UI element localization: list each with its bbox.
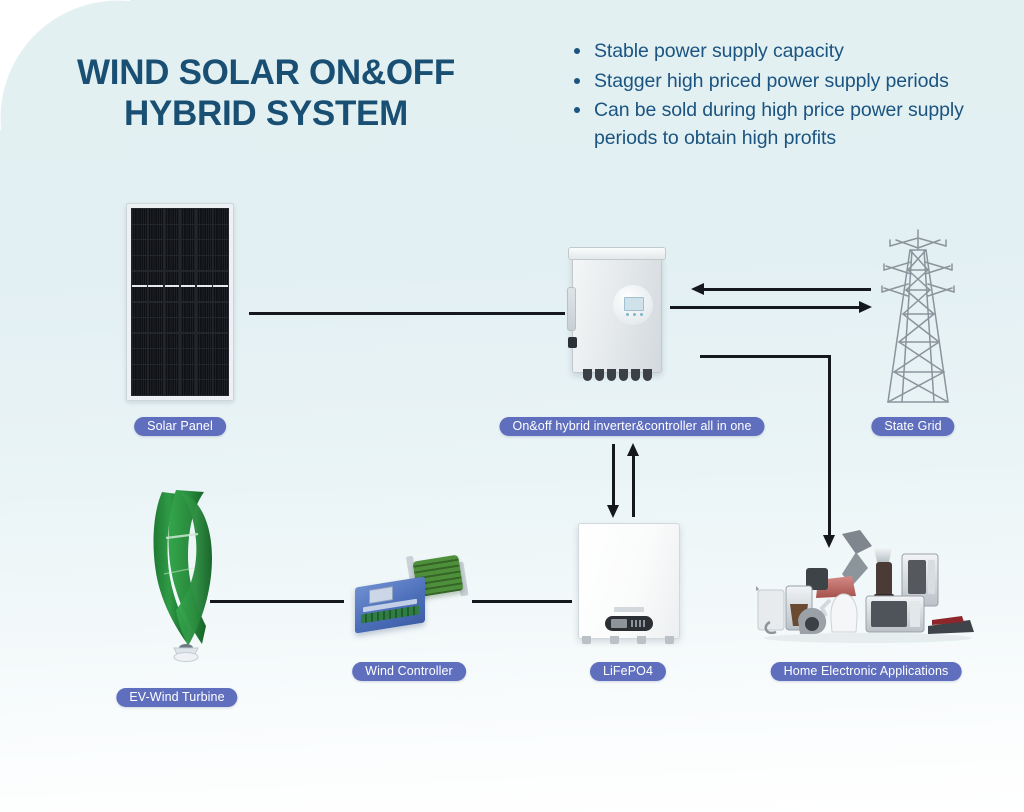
battery-display-bars [631,620,647,627]
connector-controller-to-battery [472,600,572,603]
inverter-lcd-screen [624,297,644,311]
inverter-side-vent [567,287,576,331]
battery-foot [637,636,646,644]
label-home-appliances: Home Electronic Applications [771,662,962,681]
inverter-led-2 [633,313,636,316]
arrowhead-grid-to-inverter [691,283,704,295]
connector-inverter-to-appliances-horizontal [700,355,831,358]
solar-panel-graphic [126,203,234,401]
battery-display-segment [611,619,627,628]
inverter-connector [595,369,604,381]
label-inverter: On&off hybrid inverter&controller all in… [499,417,764,436]
feature-bullet-list: Stable power supply capacity Stagger hig… [572,38,992,155]
connector-inverter-to-appliances-vertical [828,355,831,538]
state-grid-tower-graphic [866,226,970,406]
transmission-tower-icon [866,226,970,406]
inverter-connector [607,369,616,381]
home-appliances-graphic [756,528,986,646]
bullet-item-3: Can be sold during high price power supp… [572,97,992,152]
inverter-led-3 [640,313,643,316]
battery-foot [582,636,591,644]
inverter-led-1 [626,313,629,316]
wind-controller-graphic [355,550,465,646]
label-state-grid: State Grid [871,417,954,436]
battery-brand-mark [614,607,644,612]
battery-feet [582,636,674,644]
page-title: WIND SOLAR ON&OFF HYBRID SYSTEM [56,52,476,135]
appliance-cluster-icon [756,528,986,646]
bullet-item-2: Stagger high priced power supply periods [572,68,992,96]
battery-status-display [605,616,653,631]
connector-grid-to-inverter [703,288,871,291]
label-battery: LiFePO4 [590,662,666,681]
connector-solar-to-inverter [249,312,565,315]
label-solar-panel: Solar Panel [134,417,226,436]
inverter-connector-row [576,369,658,381]
solar-panel-cells [131,208,229,396]
connector-battery-to-inverter [632,455,635,517]
arrowhead-inverter-to-battery [607,505,619,518]
battery-foot [665,636,674,644]
wind-turbine-graphic [136,478,232,664]
diagram-canvas: WIND SOLAR ON&OFF HYBRID SYSTEM Stable p… [0,0,1024,812]
label-wind-controller: Wind Controller [352,662,466,681]
vertical-wind-turbine-icon [136,478,232,664]
label-wind-turbine: EV-Wind Turbine [116,688,237,707]
inverter-connector [619,369,628,381]
inverter-connector [631,369,640,381]
inverter-side-knob [568,337,577,348]
battery-graphic [578,523,678,647]
inverter-connector [643,369,652,381]
arrowhead-battery-to-inverter [627,443,639,456]
connector-inverter-to-battery [612,444,615,508]
battery-foot [610,636,619,644]
inverter-connector [583,369,592,381]
connector-inverter-to-grid [670,306,860,309]
bullet-item-1: Stable power supply capacity [572,38,992,66]
inverter-top-cap [568,247,666,260]
inverter-graphic [566,245,666,385]
